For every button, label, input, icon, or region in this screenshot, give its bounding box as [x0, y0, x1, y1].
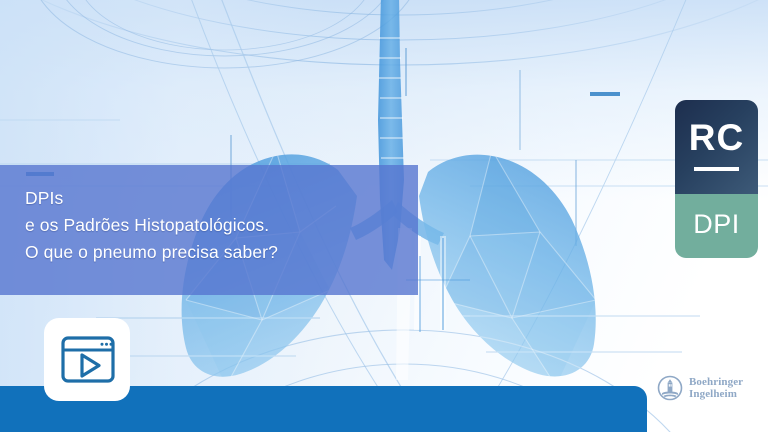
sponsor-logo: Boehringer Ingelheim [657, 368, 763, 408]
play-video-tile[interactable] [44, 318, 130, 401]
title-banner-text: DPIs e os Padrões Histopatológicos. O qu… [25, 185, 408, 266]
rc-logo-underline [694, 167, 739, 171]
sponsor-name-line-2: Ingelheim [689, 388, 743, 401]
sponsor-name-line-1: Boehringer [689, 376, 743, 389]
title-banner: DPIs e os Padrões Histopatológicos. O qu… [0, 165, 418, 295]
title-line-3: O que o pneumo precisa saber? [25, 239, 408, 266]
sponsor-name: Boehringer Ingelheim [689, 376, 743, 401]
rc-logo-label: RC [675, 116, 758, 160]
rc-logo-badge[interactable]: RC [675, 100, 758, 194]
title-line-2: e os Padrões Histopatológicos. [25, 212, 408, 239]
video-thumbnail-slide: DPIs e os Padrões Histopatológicos. O qu… [0, 0, 768, 432]
boehringer-crest-icon [657, 375, 683, 401]
dpi-logo-badge[interactable]: DPI [675, 194, 758, 258]
video-window-play-icon [61, 336, 115, 383]
dpi-logo-label: DPI [675, 207, 758, 241]
title-line-1: DPIs [25, 185, 408, 212]
